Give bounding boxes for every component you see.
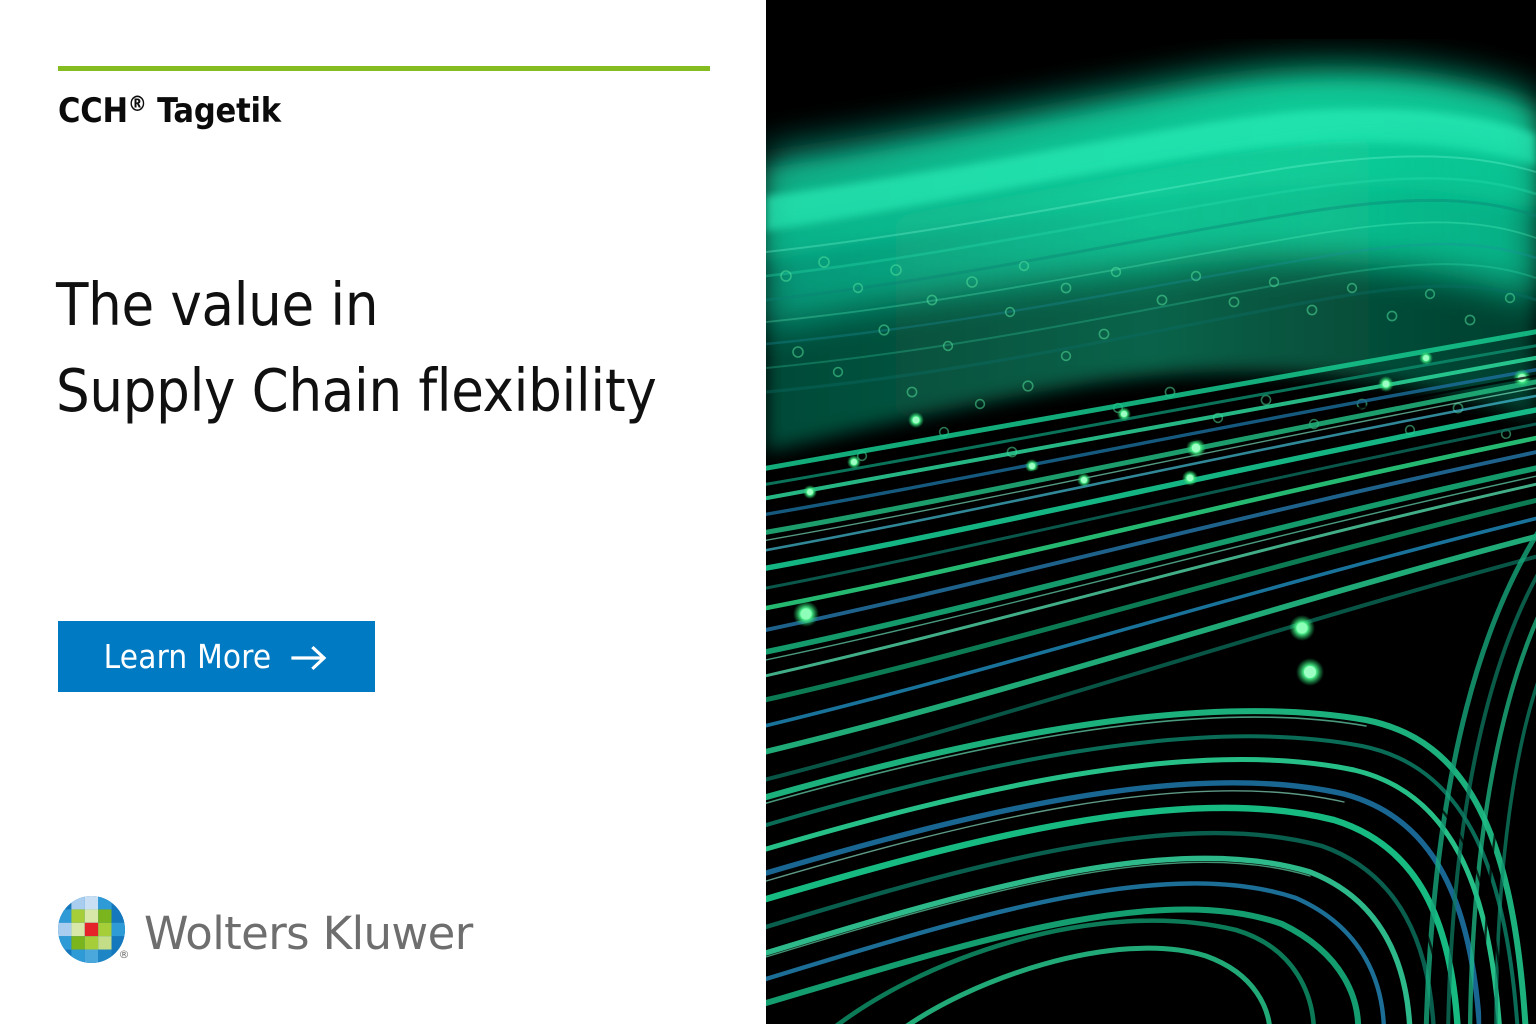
ad-banner: CCH® Tagetik The value in Supply Chain f… (0, 0, 1536, 1024)
wolters-kluwer-mosaic-icon: ® (58, 896, 130, 968)
wolters-kluwer-logo: ® Wolters Kluwer (58, 896, 473, 968)
arrow-right-icon (291, 645, 329, 671)
brand-name-suffix: Tagetik (147, 91, 281, 131)
brand-accent-rule (58, 66, 710, 71)
fiber-optic-strands-photo (766, 0, 1536, 1024)
learn-more-button-label: Learn More (104, 640, 272, 673)
learn-more-button[interactable]: Learn More (58, 621, 375, 692)
registered-trademark-icon: ® (128, 91, 147, 116)
brand-block: CCH® Tagetik (58, 66, 710, 128)
content-panel: CCH® Tagetik The value in Supply Chain f… (0, 0, 766, 1024)
brand-name-prefix: CCH (58, 91, 128, 131)
brand-name: CCH® Tagetik (58, 93, 710, 128)
svg-text:®: ® (119, 948, 130, 961)
page-title: The value in Supply Chain flexibility (56, 262, 746, 435)
headline-line-2: Supply Chain flexibility (56, 348, 746, 435)
wolters-kluwer-wordmark: Wolters Kluwer (144, 911, 473, 956)
learn-more-button-content: Learn More (104, 640, 330, 673)
headline-line-1: The value in (56, 262, 746, 349)
